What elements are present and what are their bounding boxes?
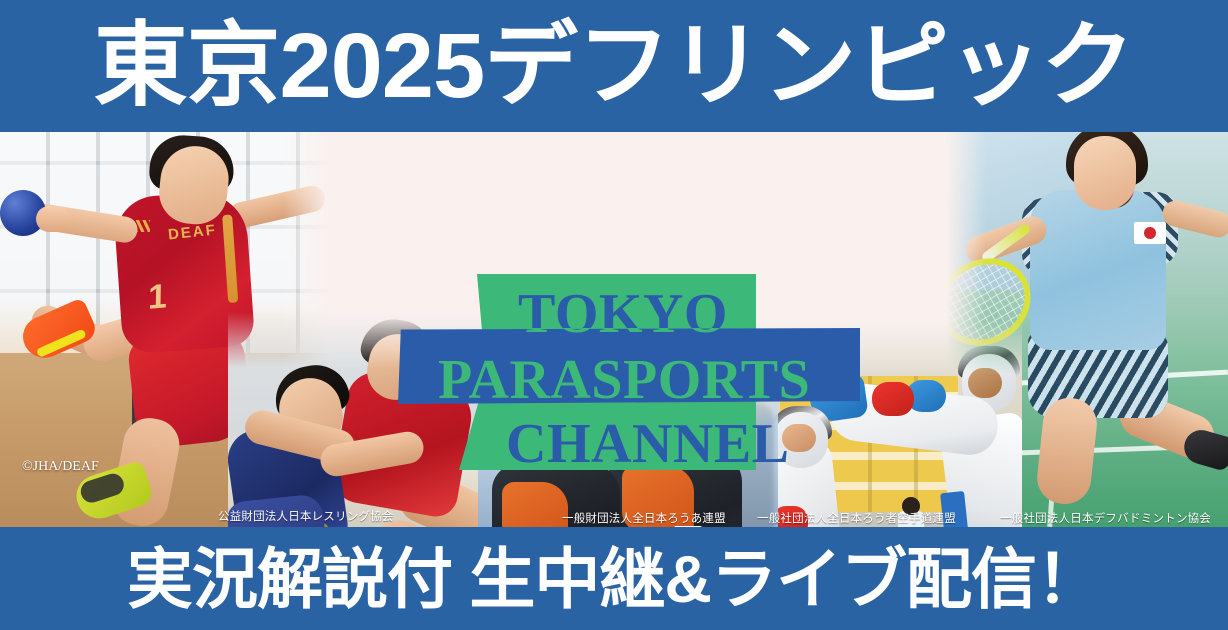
page-title: 東京2025デフリンピック bbox=[94, 20, 1134, 112]
copyright-handball: ©JHA/DEAF bbox=[22, 459, 99, 475]
badminton-head bbox=[1074, 136, 1136, 210]
tokyo-parasports-channel-logo: TOKYO PARASPORTS CHANNEL TOKYO PARASPORT… bbox=[390, 270, 850, 470]
logo-line-parasports-inverted: PARASPORTS bbox=[438, 348, 810, 412]
karate-red-glove-upper bbox=[872, 382, 914, 416]
handball-hand bbox=[36, 206, 70, 232]
handball-jersey-number: 1 bbox=[148, 277, 168, 318]
top-banner: 東京2025デフリンピック bbox=[0, 0, 1228, 132]
caption-karate: 一般社団法人全日本ろう者空手道連盟 bbox=[757, 510, 956, 526]
badminton-jersey bbox=[1030, 190, 1166, 350]
caption-badminton: 一般社団法人日本デフバドミントン協会 bbox=[1000, 510, 1211, 526]
photo-collage-stage: DEAF 1 bbox=[0, 132, 1228, 527]
broadcast-tagline: 実況解説付 生中継&ライブ配信！ bbox=[127, 546, 1101, 612]
bottom-banner: 実況解説付 生中継&ライブ配信！ bbox=[0, 527, 1228, 630]
badminton-japan-flag-icon bbox=[1134, 222, 1166, 244]
caption-wrestling: 公益財団法人日本レスリング協会 bbox=[218, 508, 394, 524]
caption-table-tennis: 一般財団法人全日本ろうあ連盟 bbox=[562, 510, 726, 526]
